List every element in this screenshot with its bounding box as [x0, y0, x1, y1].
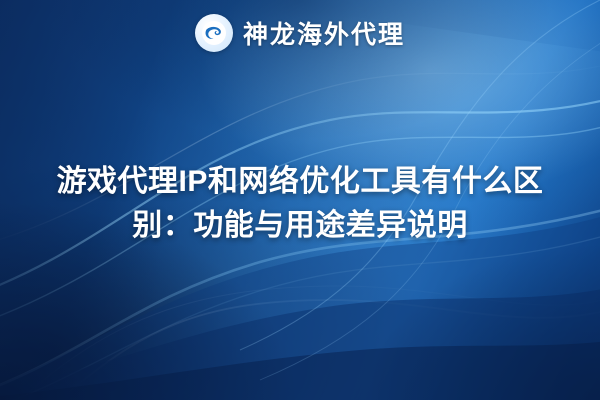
- title-line-2: 别：功能与用途差异说明: [6, 204, 594, 248]
- dragon-circle-logo-icon: [195, 14, 233, 52]
- promo-banner: 神龙海外代理 游戏代理IP和网络优化工具有什么区 别：功能与用途差异说明: [0, 0, 600, 400]
- brand-logo: 神龙海外代理: [0, 14, 600, 52]
- brand-name: 神龙海外代理: [243, 15, 405, 51]
- title-line-1: 游戏代理IP和网络优化工具有什么区: [6, 160, 594, 204]
- banner-title: 游戏代理IP和网络优化工具有什么区 别：功能与用途差异说明: [0, 160, 600, 248]
